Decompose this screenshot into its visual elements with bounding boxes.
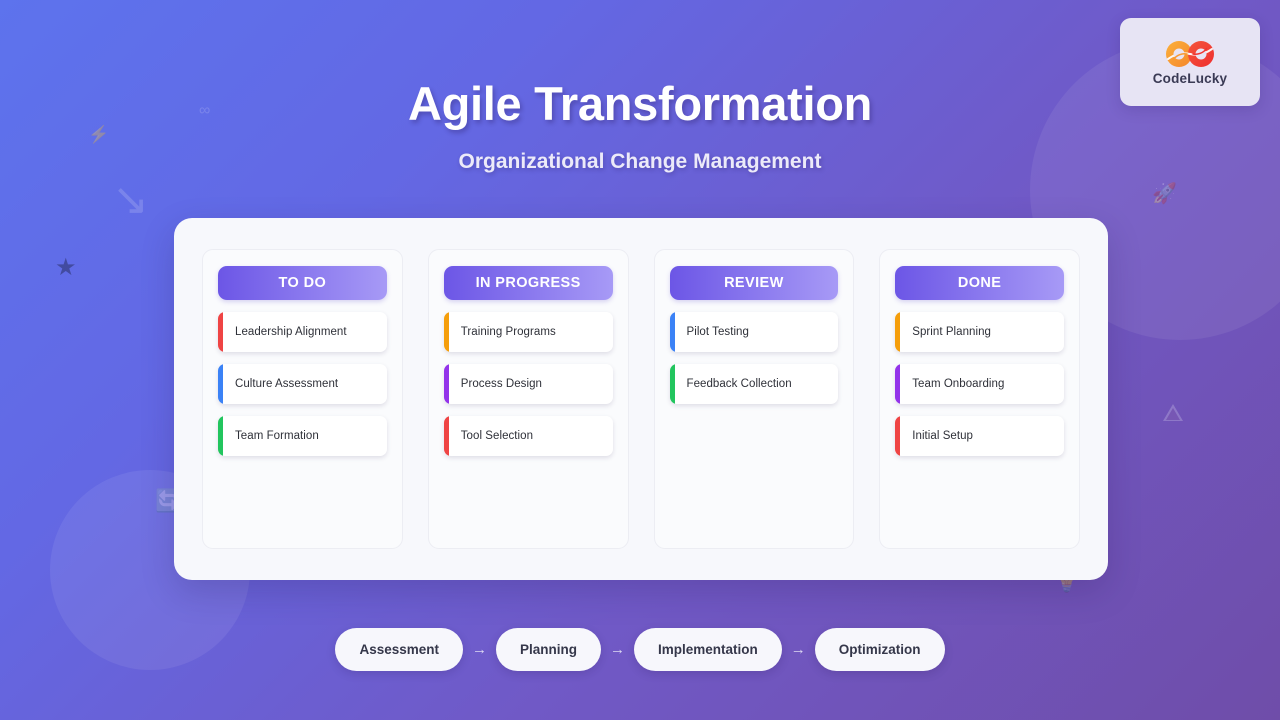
kanban-card-label: Team Formation	[235, 430, 319, 442]
page-title: Agile Transformation	[0, 76, 1280, 131]
workflow-arrow-icon: →	[472, 642, 487, 657]
kanban-card-label: Culture Assessment	[235, 378, 338, 390]
workflow-step-3[interactable]: Implementation	[634, 628, 782, 671]
workflow-step-4[interactable]: Optimization	[815, 628, 945, 671]
rocket-icon: 🚀	[1152, 184, 1177, 204]
brand-name: CodeLucky	[1153, 71, 1228, 86]
star-icon: ★	[55, 256, 77, 280]
column-header-review[interactable]: REVIEW	[670, 266, 839, 300]
kanban-column-in-progress: IN PROGRESSTraining ProgramsProcess Desi…	[428, 249, 629, 549]
kanban-card-label: Feedback Collection	[687, 378, 792, 390]
kanban-card[interactable]: Pilot Testing	[670, 312, 839, 352]
kanban-card[interactable]: Team Formation	[218, 416, 387, 456]
brand-logo-badge: CodeLucky	[1120, 18, 1260, 106]
kanban-column-todo: TO DOLeadership AlignmentCulture Assessm…	[202, 249, 403, 549]
page-subtitle: Organizational Change Management	[0, 150, 1280, 174]
kanban-card-label: Process Design	[461, 378, 542, 390]
kanban-card[interactable]: Leadership Alignment	[218, 312, 387, 352]
kanban-column-review: REVIEWPilot TestingFeedback Collection	[654, 249, 855, 549]
column-header-done[interactable]: DONE	[895, 266, 1064, 300]
kanban-card-label: Leadership Alignment	[235, 326, 347, 338]
workflow-step-1[interactable]: Assessment	[335, 628, 463, 671]
kanban-card[interactable]: Training Programs	[444, 312, 613, 352]
infinity-leaf-icon	[1161, 39, 1219, 69]
triangle-outline-icon	[1163, 404, 1183, 421]
kanban-card[interactable]: Initial Setup	[895, 416, 1064, 456]
kanban-card[interactable]: Feedback Collection	[670, 364, 839, 404]
kanban-card-label: Initial Setup	[912, 430, 973, 442]
kanban-card-label: Training Programs	[461, 326, 556, 338]
slide-canvas: ∞⚡↘★🔄🚀💡↘ Agile Transformation Organizati…	[0, 0, 1280, 720]
column-header-in-progress[interactable]: IN PROGRESS	[444, 266, 613, 300]
kanban-column-done: DONESprint PlanningTeam OnboardingInitia…	[879, 249, 1080, 549]
kanban-card[interactable]: Process Design	[444, 364, 613, 404]
column-header-todo[interactable]: TO DO	[218, 266, 387, 300]
workflow-step-2[interactable]: Planning	[496, 628, 601, 671]
kanban-card[interactable]: Team Onboarding	[895, 364, 1064, 404]
decorative-icon-layer: ∞⚡↘★🔄🚀💡↘	[0, 0, 1280, 17]
workflow-arrow-icon: →	[610, 642, 625, 657]
kanban-card[interactable]: Culture Assessment	[218, 364, 387, 404]
kanban-card-label: Tool Selection	[461, 430, 533, 442]
workflow-arrow-icon: →	[791, 642, 806, 657]
kanban-card[interactable]: Sprint Planning	[895, 312, 1064, 352]
kanban-card-label: Team Onboarding	[912, 378, 1004, 390]
kanban-card-label: Pilot Testing	[687, 326, 749, 338]
workflow-steps: Assessment→Planning→Implementation→Optim…	[0, 628, 1280, 671]
kanban-card[interactable]: Tool Selection	[444, 416, 613, 456]
kanban-board: TO DOLeadership AlignmentCulture Assessm…	[174, 218, 1108, 580]
arrow-down-right-icon: ↘	[112, 178, 149, 222]
kanban-card-label: Sprint Planning	[912, 326, 991, 338]
